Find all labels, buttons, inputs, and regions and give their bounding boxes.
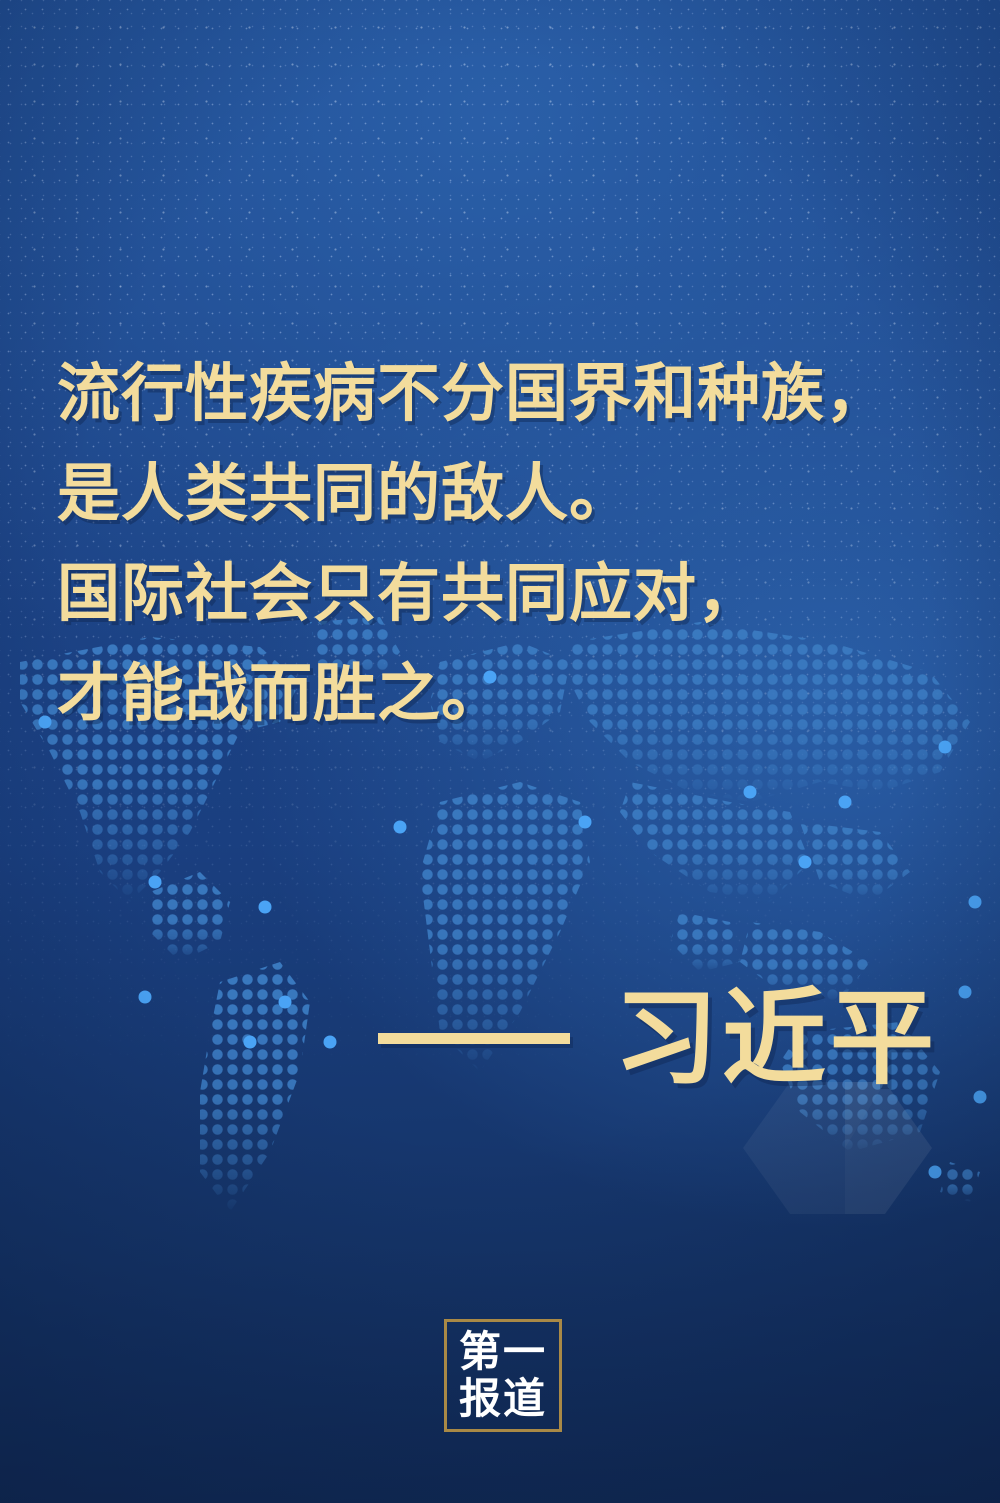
quote-line-4: 才能战而胜之。 [57, 644, 957, 744]
quote-line-2: 是人类共同的敌人。 [57, 444, 957, 544]
brand-logo-line-2: 报道 [459, 1376, 547, 1422]
starfield-texture-fine [0, 0, 1000, 1503]
quote-line-3: 国际社会只有共同应对， [57, 544, 957, 644]
vignette-overlay [0, 0, 1000, 1503]
attribution-block: 习近平 [0, 986, 938, 1090]
poster-canvas: 流行性疾病不分国界和种族， 是人类共同的敌人。 国际社会只有共同应对， 才能战而… [0, 0, 1000, 1503]
brand-logo: 第一 报道 [444, 1319, 562, 1432]
quote-line-1: 流行性疾病不分国界和种族， [57, 344, 957, 444]
quote-block: 流行性疾病不分国界和种族， 是人类共同的敌人。 国际社会只有共同应对， 才能战而… [57, 344, 957, 744]
em-dash-rule [378, 1033, 570, 1044]
starfield-texture-coarse [0, 0, 1000, 1503]
brand-logo-line-1: 第一 [459, 1329, 547, 1375]
speaker-name: 习近平 [614, 986, 938, 1090]
